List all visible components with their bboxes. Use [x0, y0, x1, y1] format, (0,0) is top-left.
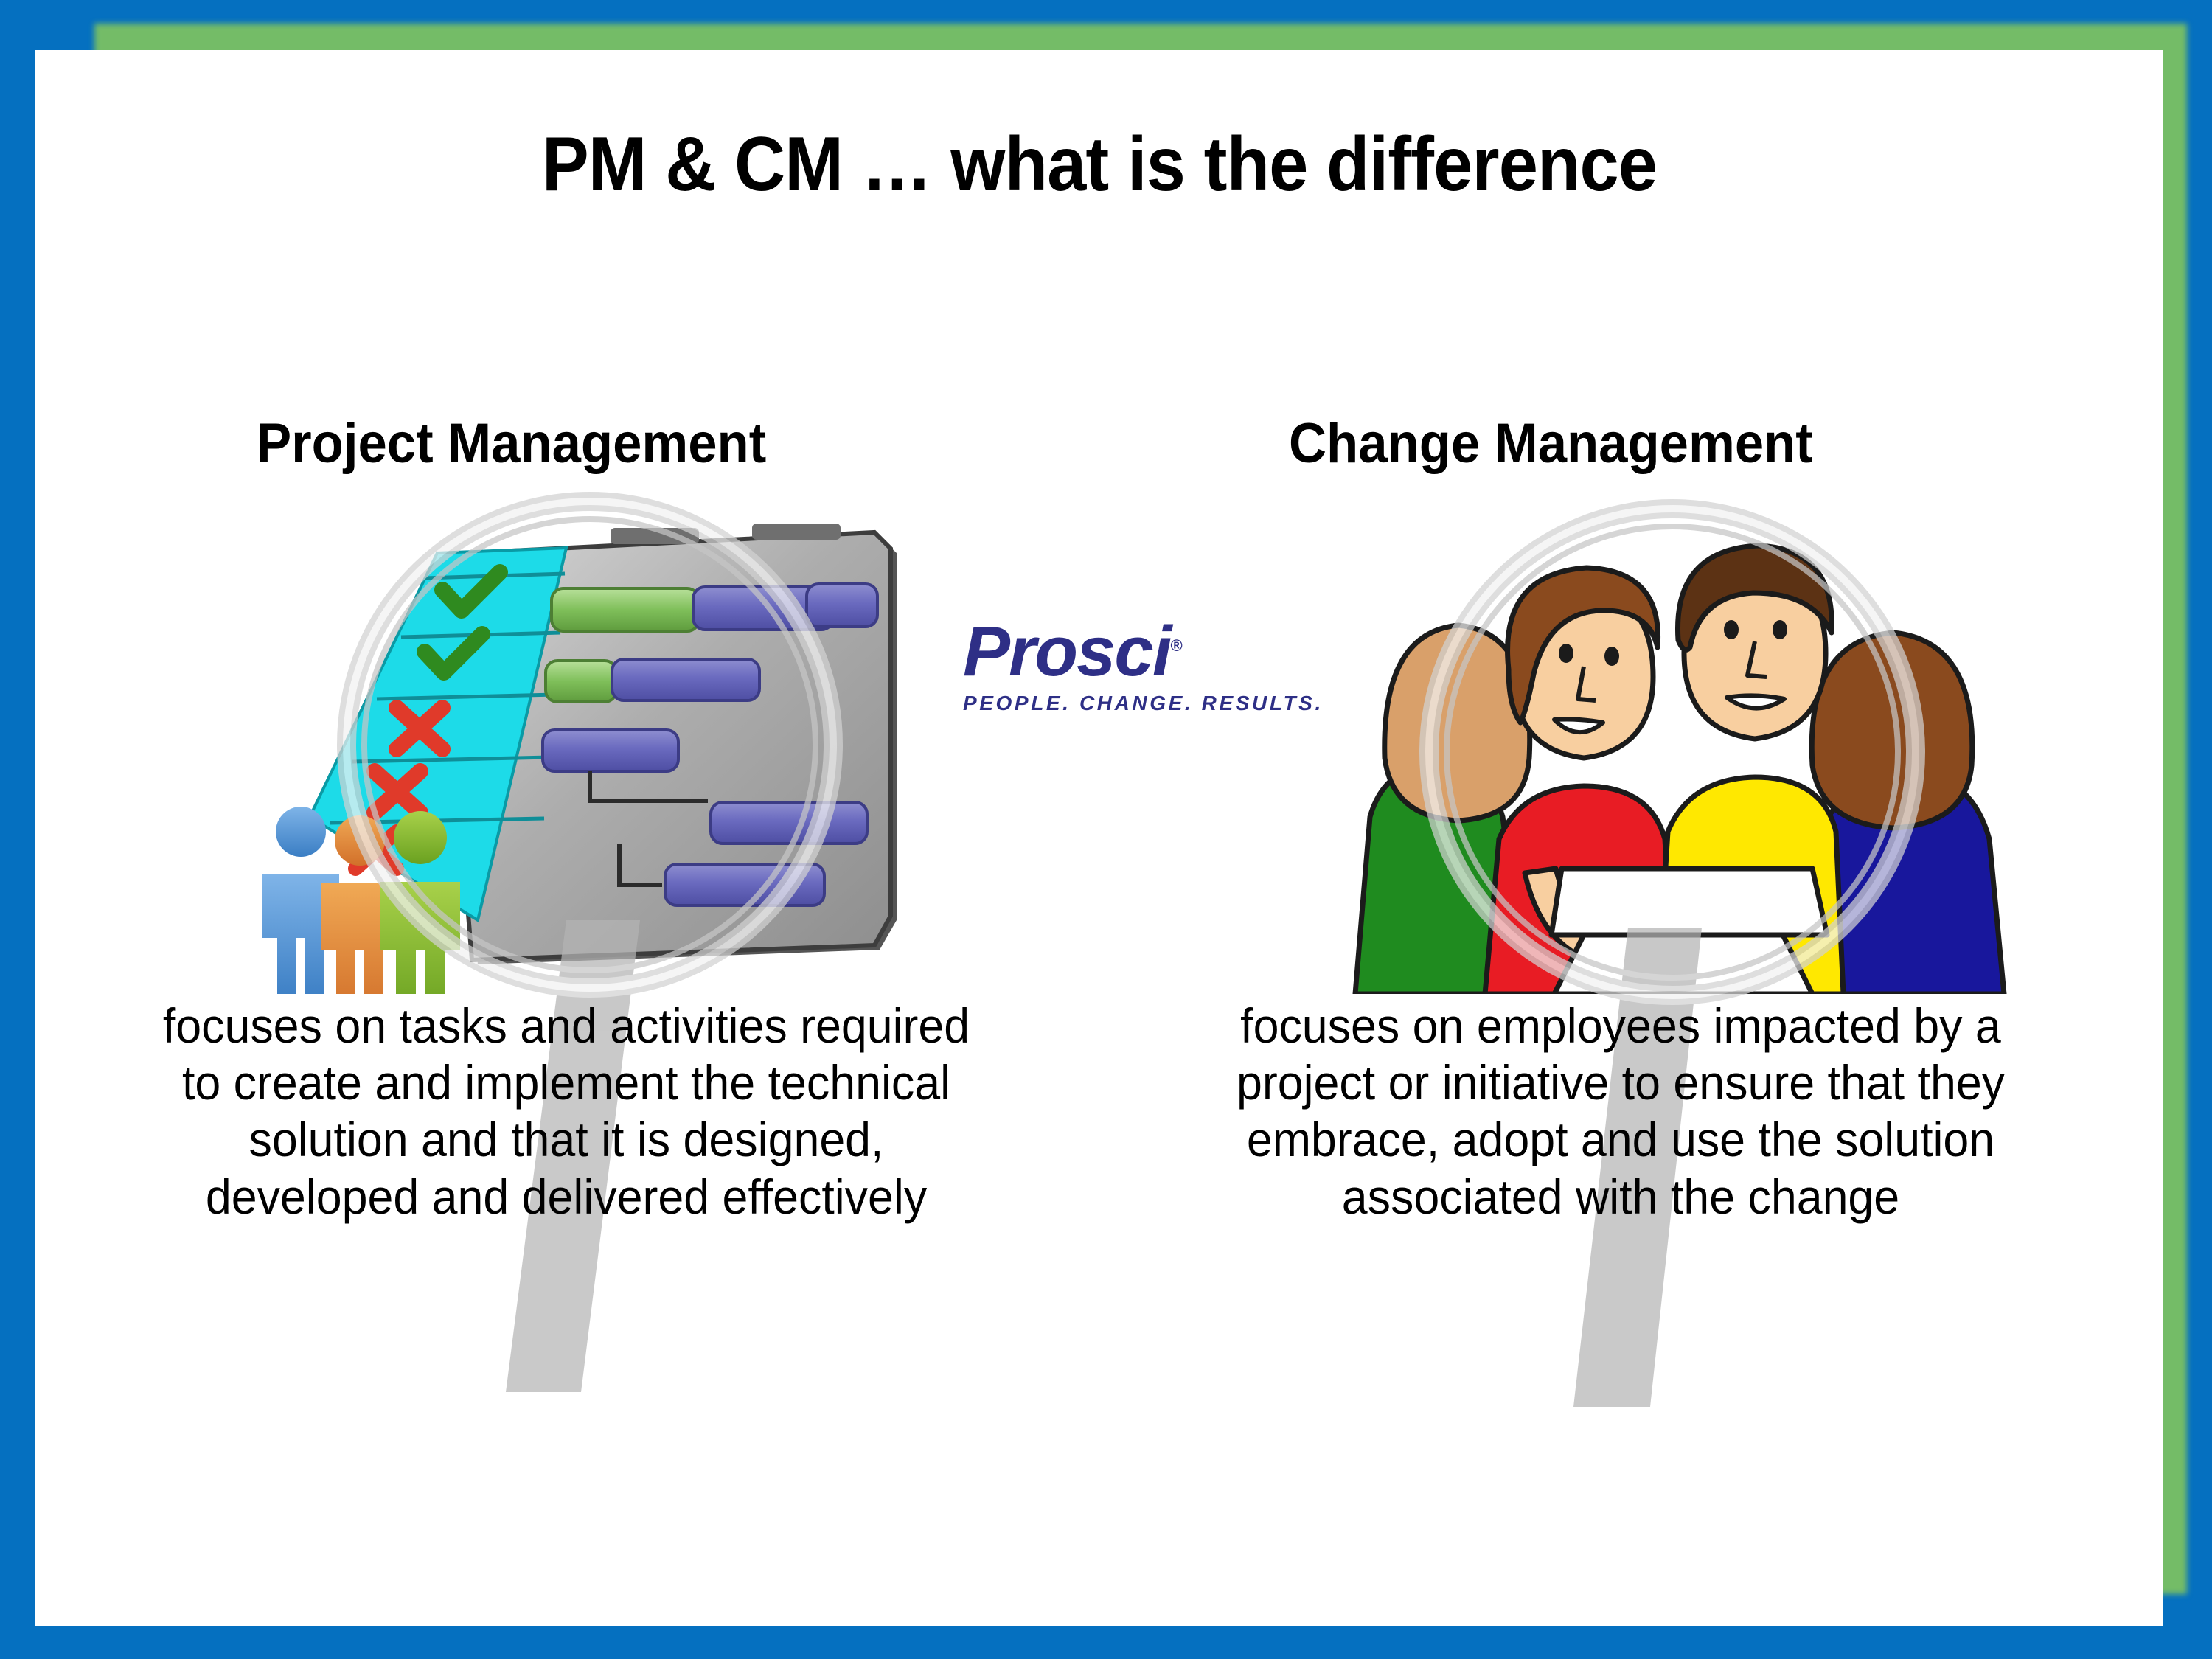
column-heading-project-management: Project Management — [257, 411, 766, 476]
gantt-chart-icon — [257, 507, 920, 994]
column-body-change-management: focuses on employees impacted by a proje… — [1197, 998, 2045, 1225]
column-heading-change-management: Change Management — [1289, 411, 1813, 476]
slide-canvas: PM & CM … what is the difference Project… — [35, 50, 2163, 1626]
prosci-wordmark-text: Prosci — [963, 612, 1170, 691]
page-title: PM & CM … what is the difference — [120, 121, 2078, 209]
slide-frame: PM & CM … what is the difference Project… — [0, 0, 2212, 1659]
prosci-tagline: PEOPLE. CHANGE. RESULTS. — [963, 692, 1310, 715]
registered-trademark-icon: ® — [1170, 636, 1182, 655]
people-meeting-clipart — [1340, 522, 2019, 994]
prosci-wordmark: Prosci® — [963, 616, 1310, 687]
people-group-icon — [262, 807, 460, 994]
prosci-logo: Prosci® PEOPLE. CHANGE. RESULTS. — [963, 616, 1310, 734]
meeting-illustration-icon — [1340, 522, 2019, 994]
gantt-chart-with-people-graphic — [257, 507, 920, 994]
column-body-project-management: focuses on tasks and activities required… — [153, 998, 980, 1225]
